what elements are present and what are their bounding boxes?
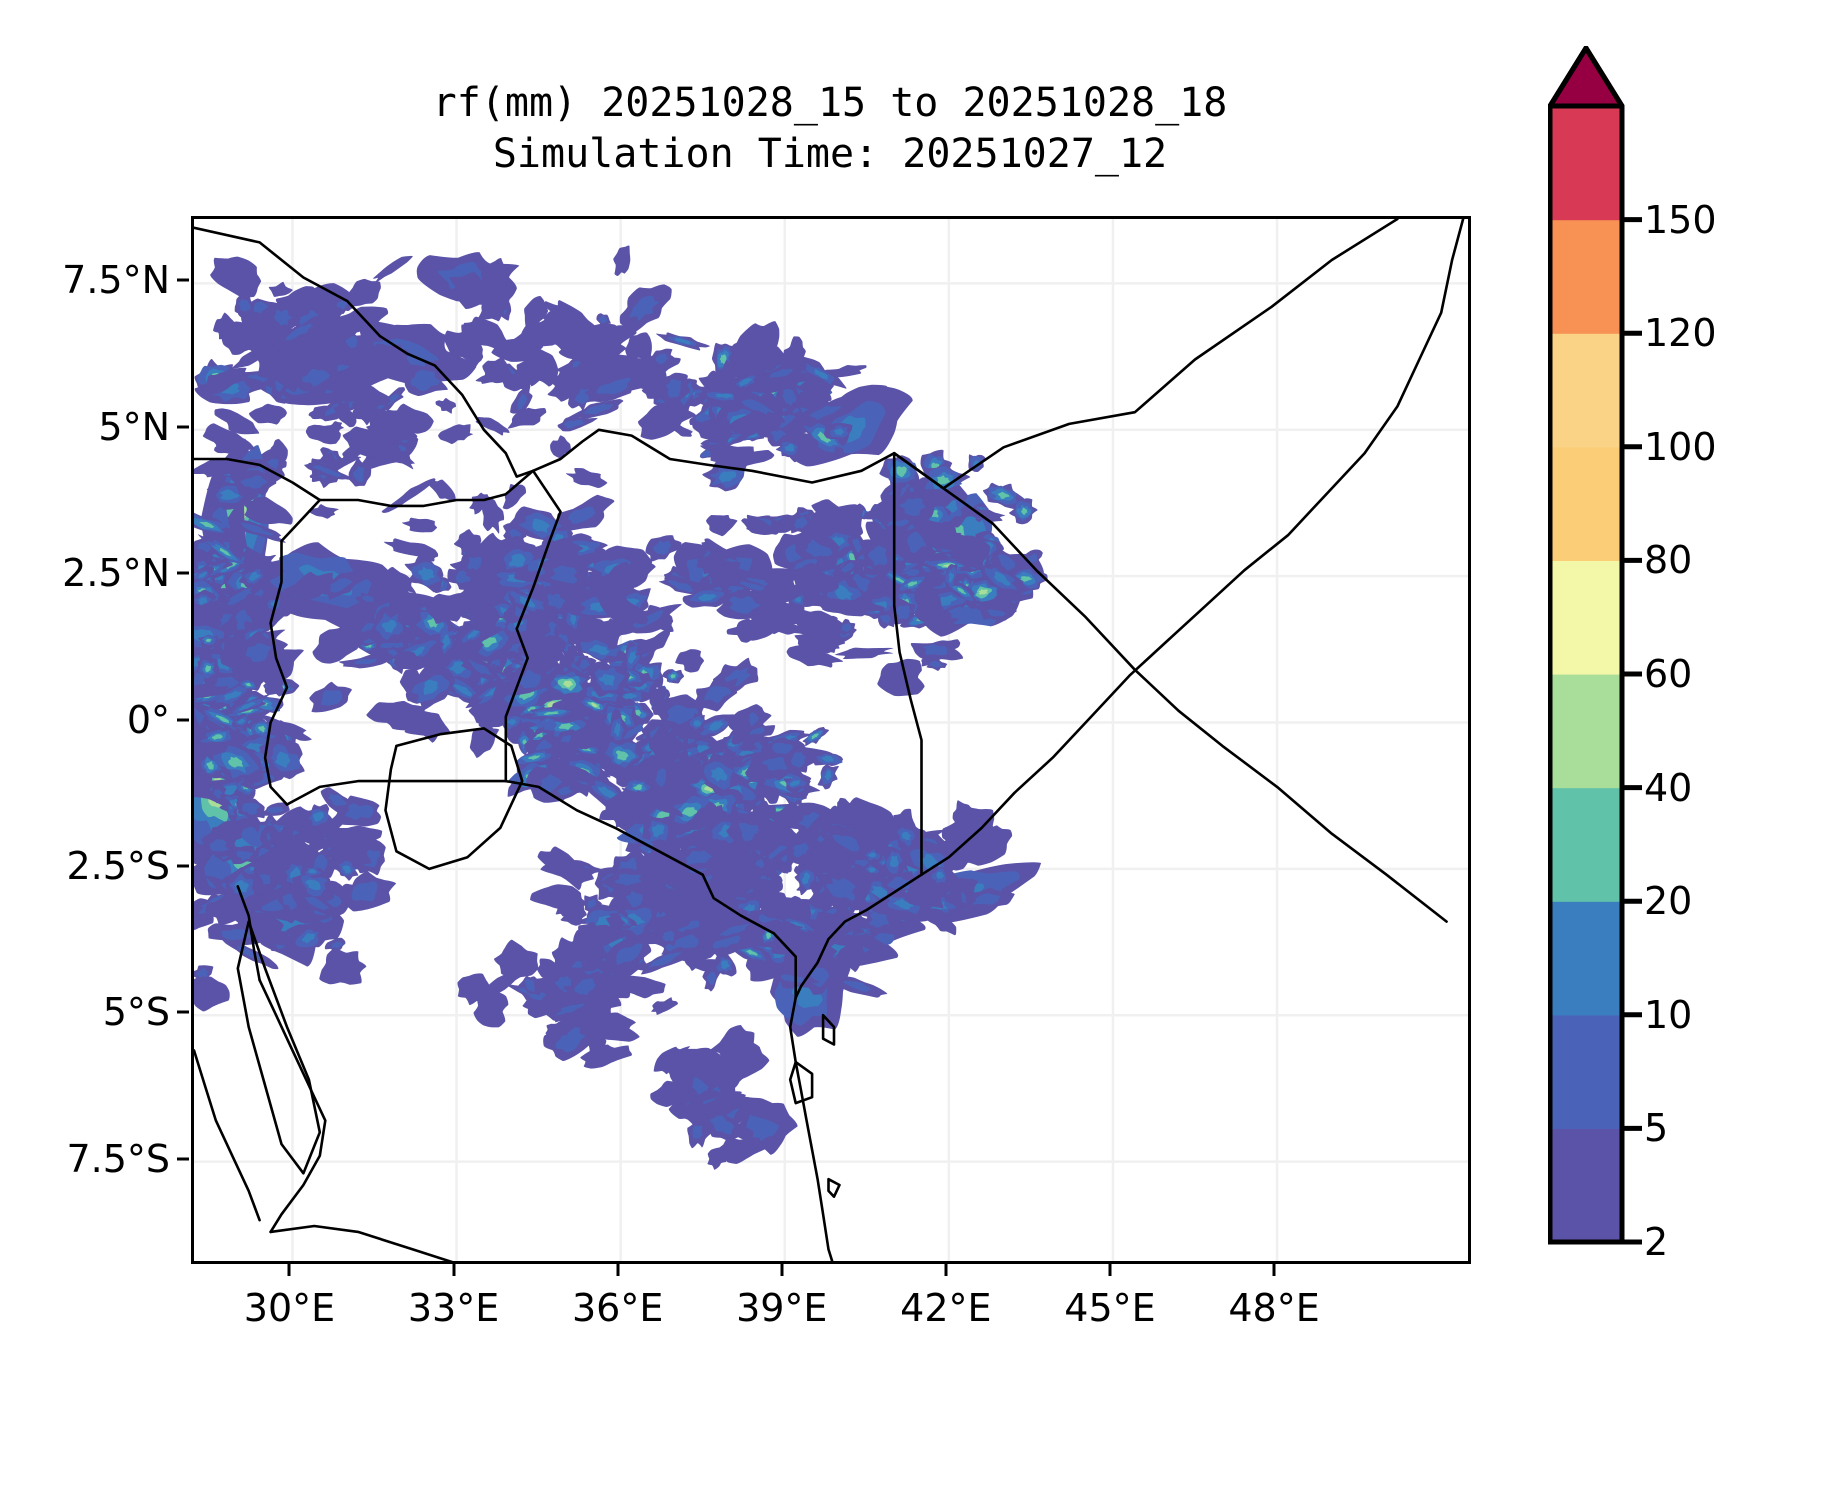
y-tick-mark-1	[177, 425, 189, 428]
map-axes	[191, 216, 1471, 1264]
x-tick-mark-5	[1108, 1264, 1111, 1276]
rain-contour-band	[675, 649, 704, 672]
map-canvas	[194, 219, 1468, 1261]
colorbar-tick-label-2: 10	[1644, 993, 1692, 1037]
page-title: rf(mm) 20251028_15 to 20251028_18 Simula…	[190, 78, 1470, 180]
colorbar-tick-label-4: 40	[1644, 766, 1692, 810]
colorbar-tick-label-3: 20	[1644, 879, 1692, 923]
x-tick-label-0: 30°E	[244, 1286, 335, 1330]
y-tick-label-2: 2.5°N	[62, 551, 170, 595]
colorbar-tick-label-6: 80	[1644, 538, 1692, 582]
colorbar-tick-label-1: 5	[1644, 1106, 1668, 1150]
rain-contour-band	[613, 246, 630, 276]
colorbar-band-2	[1550, 901, 1622, 1015]
rain-contour-band	[651, 997, 678, 1015]
rain-contour-band	[319, 948, 366, 985]
y-tick-mark-5	[177, 1011, 189, 1014]
x-tick-mark-2	[616, 1264, 619, 1276]
rain-contour-band	[313, 624, 360, 663]
rain-contour-band	[580, 1045, 632, 1069]
colorbar-tick-label-7: 100	[1644, 425, 1717, 469]
x-tick-label-5: 45°E	[1064, 1286, 1155, 1330]
geo-line-mafia	[829, 1179, 840, 1197]
rain-contour-band	[373, 256, 413, 284]
x-tick-label-1: 33°E	[408, 1286, 499, 1330]
map-svg	[194, 219, 1468, 1261]
y-tick-mark-4	[177, 864, 189, 867]
colorbar-band-8	[1550, 220, 1622, 334]
colorbar-band-1	[1550, 1015, 1622, 1129]
y-tick-label-0: 7.5°N	[62, 258, 170, 302]
rain-contour-band	[482, 358, 512, 384]
rain-contour-band	[494, 940, 538, 978]
colorbar-tick-label-5: 60	[1644, 652, 1692, 696]
rain-contour-band	[382, 478, 436, 513]
colorbar-band-7	[1550, 333, 1622, 447]
rain-contour-band	[447, 424, 470, 439]
title-line-1: rf(mm) 20251028_15 to 20251028_18	[190, 78, 1470, 129]
x-tick-mark-0	[288, 1264, 291, 1276]
rain-contour-band	[194, 976, 230, 1011]
rain-contour-band	[454, 529, 482, 556]
geo-line-lake-victoria	[386, 728, 523, 869]
title-line-2: Simulation Time: 20251027_12	[190, 129, 1470, 180]
colorbar-band-9	[1550, 106, 1622, 220]
colorbar-tick-label-0: 2	[1644, 1220, 1668, 1264]
colorbar: 251020406080100120150	[1548, 46, 1808, 1256]
colorbar-extend-arrow	[1550, 48, 1622, 106]
rain-contour-band	[402, 518, 437, 533]
x-tick-mark-1	[452, 1264, 455, 1276]
rain-contour-band	[210, 257, 261, 298]
rain-contour-band	[384, 538, 438, 561]
rain-contour-band	[706, 515, 737, 536]
rain-contour-band	[249, 404, 287, 425]
rain-contour-band	[835, 648, 894, 659]
rain-contour-band	[270, 439, 287, 462]
rain-contour-band	[727, 620, 784, 641]
x-tick-label-2: 36°E	[572, 1286, 663, 1330]
rain-contour-band	[550, 435, 571, 459]
y-tick-label-5: 5°S	[103, 990, 170, 1034]
geo-line-drc-west-edge	[194, 1050, 260, 1220]
colorbar-band-6	[1550, 447, 1622, 561]
colorbar-band-3	[1550, 788, 1622, 902]
colorbar-band-4	[1550, 674, 1622, 788]
y-tick-label-4: 2.5°S	[66, 844, 170, 888]
colorbar-tick-label-8: 120	[1644, 311, 1717, 355]
colorbar-band-5	[1550, 560, 1622, 674]
rain-contour-band	[566, 468, 607, 488]
x-tick-mark-6	[1273, 1264, 1276, 1276]
y-tick-mark-6	[177, 1157, 189, 1160]
y-tick-label-6: 7.5°S	[66, 1137, 170, 1181]
rain-contour-band	[877, 659, 924, 696]
y-tick-mark-0	[177, 279, 189, 282]
rainfall-forecast-figure: rf(mm) 20251028_15 to 20251028_18 Simula…	[0, 0, 1833, 1500]
x-tick-mark-4	[944, 1264, 947, 1276]
geo-line-tanzania-uganda	[287, 781, 506, 804]
x-tick-mark-3	[780, 1264, 783, 1276]
rain-contour-band	[436, 398, 456, 414]
x-tick-label-4: 42°E	[900, 1286, 991, 1330]
y-tick-mark-3	[177, 718, 189, 721]
rain-contour-band	[707, 1147, 726, 1169]
precipitation-contours	[194, 246, 1048, 1170]
x-tick-label-3: 39°E	[736, 1286, 827, 1330]
y-tick-label-1: 5°N	[98, 405, 170, 449]
geo-line-tanzania-coast	[790, 998, 834, 1261]
colorbar-tick-label-9: 150	[1644, 198, 1717, 242]
y-tick-mark-2	[177, 572, 189, 575]
y-tick-label-3: 0°	[127, 698, 170, 742]
geo-line-tanzania-south	[271, 1226, 468, 1261]
x-tick-label-6: 48°E	[1228, 1286, 1319, 1330]
colorbar-band-0	[1550, 1128, 1622, 1242]
